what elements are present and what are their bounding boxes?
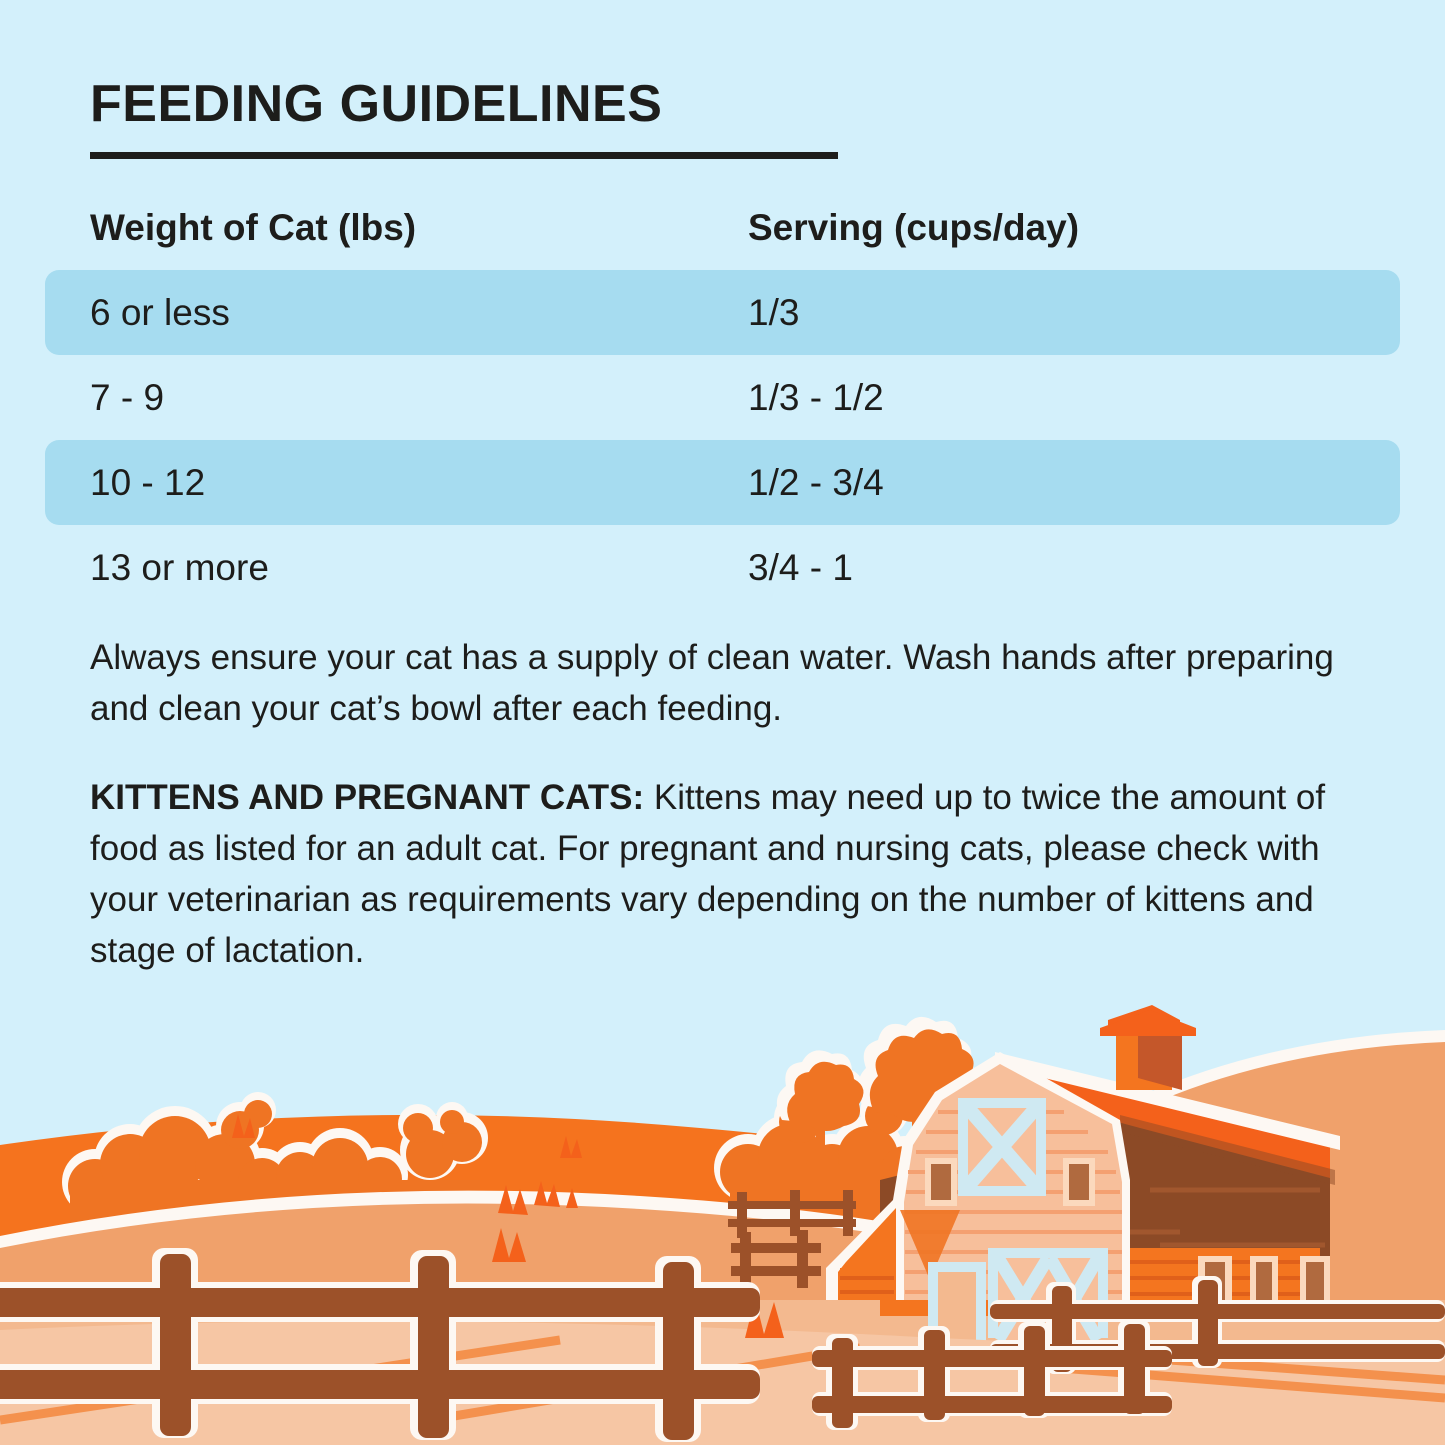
- cell-serving: 1/3 - 1/2: [748, 355, 884, 440]
- row-highlight: [45, 270, 1400, 355]
- table-row: 10 - 12 1/2 - 3/4: [0, 440, 1445, 525]
- note-water: Always ensure your cat has a supply of c…: [90, 632, 1370, 734]
- table-row: 13 or more 3/4 - 1: [0, 525, 1445, 610]
- title-underline: [90, 152, 838, 159]
- feeding-table: Weight of Cat (lbs) Serving (cups/day) 6…: [0, 185, 1445, 610]
- note-kittens: KITTENS AND PREGNANT CATS: Kittens may n…: [90, 772, 1370, 976]
- cell-serving: 1/2 - 3/4: [748, 440, 884, 525]
- table-header-row: Weight of Cat (lbs) Serving (cups/day): [0, 185, 1445, 270]
- cell-weight: 10 - 12: [90, 440, 205, 525]
- text-content: FEEDING GUIDELINES Weight of Cat (lbs) S…: [0, 0, 1445, 1010]
- column-header-serving: Serving (cups/day): [748, 185, 1079, 270]
- table-row: 7 - 9 1/3 - 1/2: [0, 355, 1445, 440]
- barn-loft-window: [958, 1098, 1046, 1196]
- feeding-guidelines-panel: FEEDING GUIDELINES Weight of Cat (lbs) S…: [0, 0, 1445, 1445]
- cell-weight: 6 or less: [90, 270, 230, 355]
- table-row: 6 or less 1/3: [0, 270, 1445, 355]
- cell-weight: 7 - 9: [90, 355, 164, 440]
- cell-serving: 3/4 - 1: [748, 525, 853, 610]
- note-kittens-label: KITTENS AND PREGNANT CATS:: [90, 778, 644, 817]
- cell-weight: 13 or more: [90, 525, 269, 610]
- page-title: FEEDING GUIDELINES: [90, 78, 662, 130]
- column-header-weight: Weight of Cat (lbs): [90, 185, 416, 270]
- row-highlight: [45, 440, 1400, 525]
- cell-serving: 1/3: [748, 270, 799, 355]
